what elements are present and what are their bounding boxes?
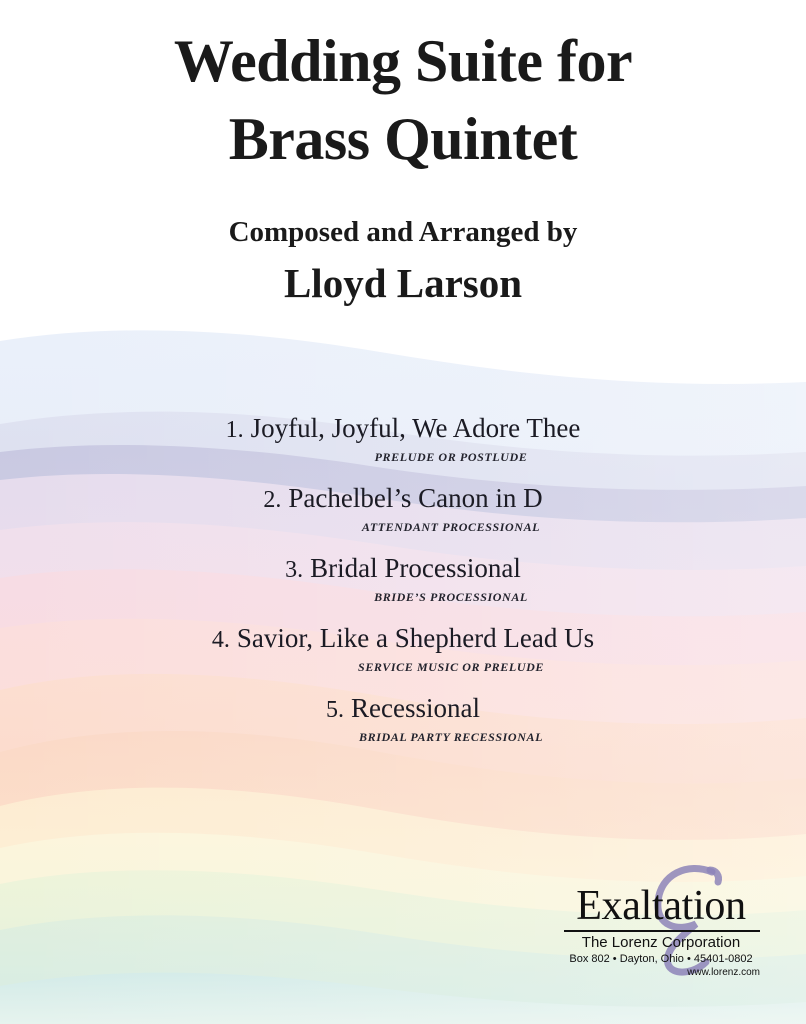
page-title: Wedding Suite for Brass Quintet [0, 22, 806, 178]
track-number-1: 1. [226, 417, 251, 443]
track-name-3: Bridal Processional [310, 553, 521, 583]
publisher-logo: Exaltation The Lorenz Corporation Box 80… [558, 862, 764, 980]
title-line-2: Brass Quintet [0, 100, 806, 178]
track-name-2: Pachelbel’s Canon in D [288, 483, 542, 513]
track-title-row-2: 2.Pachelbel’s Canon in D [0, 482, 806, 517]
track-item-4: 4.Savior, Like a Shepherd Lead Us SERVIC… [0, 622, 806, 676]
track-title-row-4: 4.Savior, Like a Shepherd Lead Us [0, 622, 806, 657]
track-subtitle-2: ATTENDANT PROCESSIONAL [96, 518, 806, 536]
track-item-5: 5.Recessional BRIDAL PARTY RECESSIONAL [0, 692, 806, 746]
logo-divider-rule [564, 930, 760, 932]
publisher-corporation: The Lorenz Corporation [558, 933, 764, 952]
publisher-brand: Exaltation [558, 884, 764, 928]
publisher-address: Box 802 • Dayton, Ohio • 45401-0802 [558, 952, 764, 966]
track-item-3: 3.Bridal Processional BRIDE’S PROCESSION… [0, 552, 806, 606]
track-number-4: 4. [212, 627, 237, 653]
track-item-2: 2.Pachelbel’s Canon in D ATTENDANT PROCE… [0, 482, 806, 536]
track-subtitle-4: SERVICE MUSIC OR PRELUDE [96, 658, 806, 676]
track-number-2: 2. [263, 487, 288, 513]
track-item-1: 1.Joyful, Joyful, We Adore Thee PRELUDE … [0, 412, 806, 466]
composer-credit: Composed and Arranged by Lloyd Larson [0, 212, 806, 310]
title-line-1: Wedding Suite for [0, 22, 806, 100]
track-number-5: 5. [326, 697, 351, 723]
track-subtitle-1: PRELUDE OR POSTLUDE [96, 448, 806, 466]
sheet-music-cover-page: Wedding Suite for Brass Quintet Composed… [0, 0, 806, 1024]
track-title-row-5: 5.Recessional [0, 692, 806, 727]
track-number-3: 3. [285, 557, 310, 583]
track-list: 1.Joyful, Joyful, We Adore Thee PRELUDE … [0, 412, 806, 758]
track-title-row-3: 3.Bridal Processional [0, 552, 806, 587]
track-name-1: Joyful, Joyful, We Adore Thee [251, 413, 581, 443]
composer-name: Lloyd Larson [0, 256, 806, 310]
publisher-website: www.lorenz.com [558, 966, 760, 979]
track-title-row-1: 1.Joyful, Joyful, We Adore Thee [0, 412, 806, 447]
track-name-4: Savior, Like a Shepherd Lead Us [237, 623, 594, 653]
track-name-5: Recessional [351, 693, 480, 723]
track-subtitle-3: BRIDE’S PROCESSIONAL [96, 588, 806, 606]
track-subtitle-5: BRIDAL PARTY RECESSIONAL [96, 728, 806, 746]
credit-by-label: Composed and Arranged by [0, 212, 806, 252]
